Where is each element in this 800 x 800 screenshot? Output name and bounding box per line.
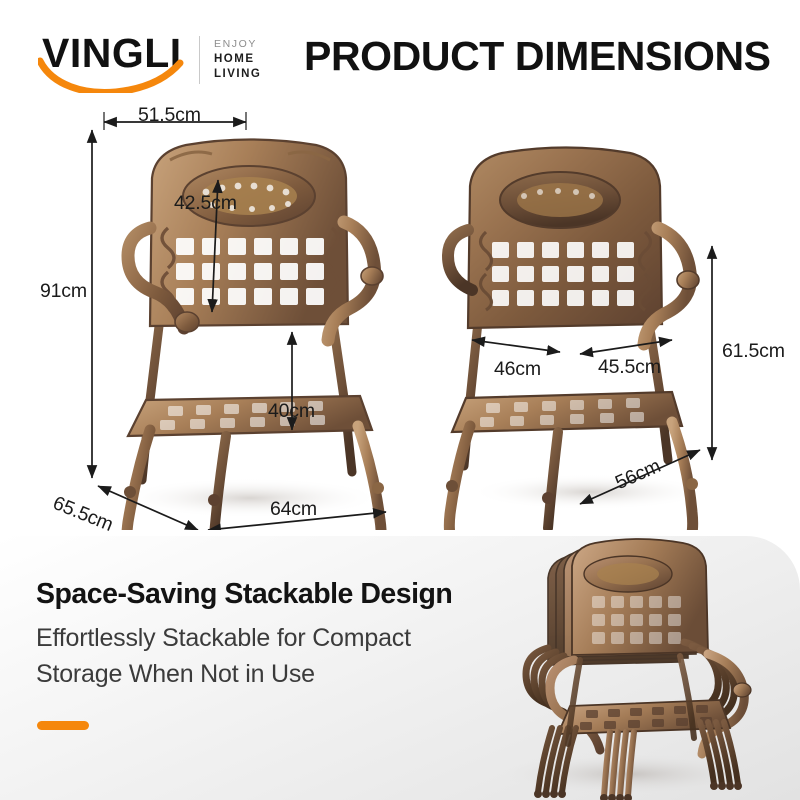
dimension-diagram: 51.5cm 42.5cm 91cm 40cm 65.5cm 64cm 46cm… <box>0 100 800 530</box>
logo-swoosh-icon <box>38 55 190 93</box>
feature-subtext: Effortlessly Stackable for Compact Stora… <box>36 621 456 692</box>
dim-label-seat-height: 40cm <box>268 400 315 423</box>
tagline-line-living: LIVING <box>214 67 300 82</box>
dim-label-seat-depth: 46cm <box>494 358 541 381</box>
logo-divider <box>199 36 200 84</box>
dim-label-backrest-height: 42.5cm <box>174 192 237 215</box>
tagline-line-home: HOME <box>214 52 300 67</box>
dim-label-seat-width: 45.5cm <box>598 356 661 379</box>
stackable-feature-panel: Space-Saving Stackable Design Effortless… <box>0 536 800 800</box>
accent-bar <box>37 721 89 730</box>
stacked-chairs-image <box>452 536 800 800</box>
dim-label-back-height: 61.5cm <box>722 340 785 363</box>
brand-logo: VINGLI <box>42 33 192 91</box>
brand-tagline: ENJOY HOME LIVING <box>214 38 300 82</box>
left-chair-illustration <box>118 140 384 531</box>
feature-heading: Space-Saving Stackable Design <box>36 578 452 611</box>
dim-label-width-top: 51.5cm <box>138 104 201 127</box>
infographic-page: VINGLI ENJOY HOME LIVING PRODUCT DIMENSI… <box>0 0 800 800</box>
tagline-line-enjoy: ENJOY <box>214 38 300 52</box>
page-title: PRODUCT DIMENSIONS <box>304 36 771 77</box>
right-chair-illustration <box>446 148 710 531</box>
dim-label-width-bottom: 64cm <box>270 498 317 521</box>
dim-label-total-height: 91cm <box>40 280 87 303</box>
stacked-chairs-illustration <box>452 536 800 800</box>
header: VINGLI ENJOY HOME LIVING PRODUCT DIMENSI… <box>0 0 800 110</box>
dimension-illustration <box>0 100 800 530</box>
